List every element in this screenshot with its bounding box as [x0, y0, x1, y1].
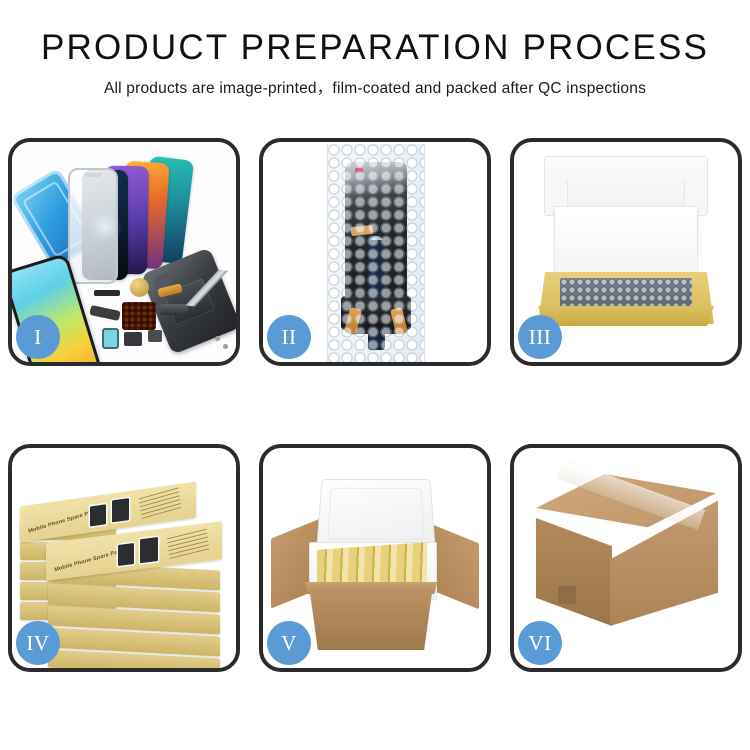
step-badge-3: III [518, 315, 562, 359]
lcd-tape [351, 225, 374, 236]
process-step-5: V [259, 444, 491, 672]
foam-lid [316, 479, 436, 550]
header: PRODUCT PREPARATION PROCESS All products… [0, 0, 750, 98]
box-brand-label-2: Mobile Phone Spare Parts [54, 548, 125, 574]
lcd-label-dot [355, 168, 363, 173]
step-badge-2: II [267, 315, 311, 359]
tweezers-graphic [179, 265, 232, 311]
lcd-gold-contact-2 [390, 307, 408, 335]
process-step-2: II [259, 138, 491, 366]
lcd-flex-cable [368, 240, 385, 350]
carton-left-face [536, 518, 612, 626]
screw-part-1 [215, 336, 220, 341]
step-badge-5: V [267, 621, 311, 665]
step-badge-1: I [16, 315, 60, 359]
box-screen-icon-1 [90, 504, 106, 526]
chip-part [148, 330, 162, 342]
carton-front-wall [301, 588, 441, 650]
carton-hand-hole-2 [562, 640, 578, 656]
speaker-part [124, 332, 142, 346]
infographic-page: PRODUCT PREPARATION PROCESS All products… [0, 0, 750, 750]
flex-cable-part-2 [89, 305, 120, 321]
bubble-wrap-bag-graphic [327, 144, 425, 362]
box-screen-icon-2 [112, 498, 129, 522]
lcd-gold-contact-1 [344, 307, 362, 335]
open-box-graphic [530, 156, 722, 336]
box-screen-icon-4 [140, 537, 158, 563]
camera-module-part [102, 328, 119, 349]
process-step-3: III [510, 138, 742, 366]
sealed-carton-graphic [532, 474, 722, 646]
bubble-wrapped-contents [560, 278, 692, 308]
step-badge-6: VI [518, 621, 562, 665]
box-spec-lines-1 [139, 486, 182, 518]
box-screen-icon-3 [118, 543, 134, 566]
process-step-1: I [8, 138, 240, 366]
flex-cable-part-3 [160, 304, 188, 315]
lcd-screen-graphic [345, 162, 407, 334]
process-step-4: Mobile Phone Spare Parts Mobile Phone Sp… [8, 444, 240, 672]
box-spec-lines-2 [167, 528, 209, 559]
box-brand-label-1: Mobile Phone Spare Parts [28, 508, 99, 535]
screw-part-2 [223, 344, 228, 349]
kraft-box-front-wall [538, 306, 714, 326]
process-step-6: VI [510, 444, 742, 672]
page-subtitle: All products are image-printed，film-coat… [0, 76, 750, 98]
lcd-base-board [341, 296, 411, 330]
process-grid: I II [8, 138, 742, 672]
step-badge-4: IV [16, 621, 60, 665]
vibrator-motor-part [130, 278, 149, 297]
flex-cable-part-1 [157, 283, 182, 298]
tempered-glass-graphic [68, 168, 118, 284]
carton-hand-hole-1 [558, 586, 576, 604]
earpiece-mesh-part [94, 290, 120, 296]
page-title: PRODUCT PREPARATION PROCESS [0, 30, 750, 67]
mesh-grid-part [122, 302, 156, 330]
